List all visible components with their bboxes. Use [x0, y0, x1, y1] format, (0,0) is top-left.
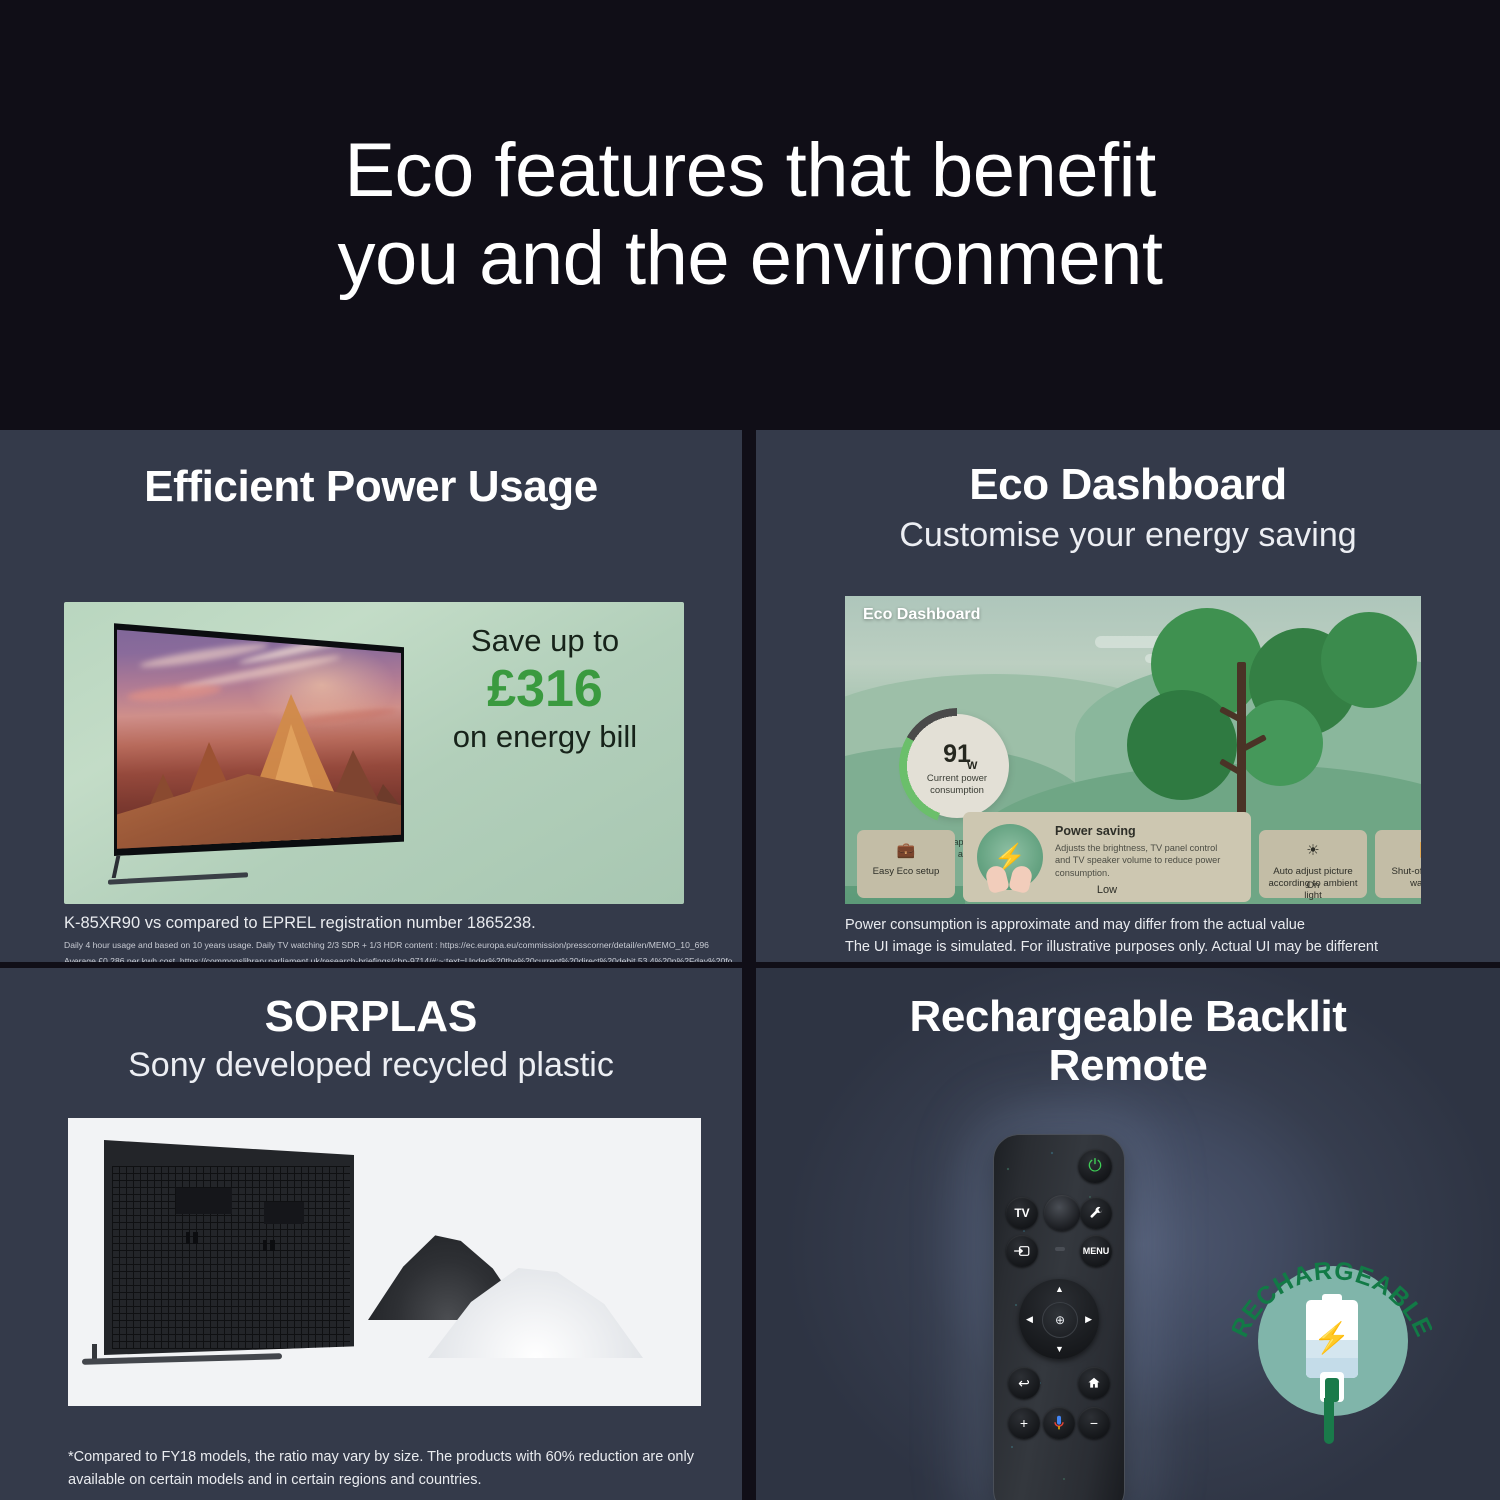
wrench-icon: [1089, 1206, 1104, 1221]
eco-dashboard-ui-screenshot: Eco Dashboard 91 W Current power consump…: [845, 596, 1421, 904]
tv-rear-panel: [104, 1140, 354, 1355]
power-panel-title: Efficient Power Usage: [0, 430, 742, 512]
microphone-icon: [1053, 1415, 1065, 1431]
page-title-line2: you and the environment: [337, 215, 1162, 303]
gauge-unit: W: [967, 760, 977, 772]
remote-panel-title: Rechargeable Backlit Remote: [756, 968, 1500, 1091]
settings-button[interactable]: [1080, 1197, 1112, 1229]
power-footnote-line1: Daily 4 hour usage and based on 10 years…: [64, 938, 736, 954]
power-consumption-gauge: 91 W Current power consumption: [905, 714, 1009, 818]
page-title: Eco features that benefit you and the en…: [337, 127, 1162, 303]
sorplas-panel-subtitle: Sony developed recycled plastic: [0, 1042, 742, 1085]
tile-auto-adjust-value: On: [1259, 880, 1367, 891]
tv-stand: [108, 856, 258, 882]
volume-down-button[interactable]: −: [1078, 1407, 1110, 1439]
tv-connector: [263, 1240, 267, 1251]
tile-shut-off-label: Shut-off when not watching: [1375, 866, 1421, 890]
dashboard-tile-row: 💼 Easy Eco setup ⚡ Power saving Adjusts …: [845, 808, 1421, 904]
dashboard-panel-title: Eco Dashboard: [756, 430, 1500, 510]
power-footnote-line2: Average £0.286 per kwh cost. https://com…: [64, 954, 736, 962]
cloud-streak: [127, 682, 223, 704]
tile-power-saving-label: Power saving: [1055, 824, 1136, 838]
ir-emitter: [1055, 1247, 1065, 1251]
dashboard-footnote-2: The UI image is simulated. For illustrat…: [845, 936, 1445, 958]
tv-connector: [270, 1240, 275, 1251]
dpad-down[interactable]: ▼: [1055, 1344, 1064, 1354]
tv-illustration: [82, 612, 412, 887]
tv-button[interactable]: TV: [1006, 1197, 1038, 1229]
dashboard-footnote-1: Power consumption is approximate and may…: [845, 914, 1445, 936]
savings-callout: Save up to £316 on energy bill: [416, 624, 674, 754]
tv-rear-stand: [82, 1350, 290, 1362]
tree-foliage: [1321, 612, 1417, 708]
home-icon: [1087, 1376, 1101, 1390]
badge-arc-text: RECHARGEABLE: [1232, 1240, 1432, 1440]
eco-dashboard-ui-label: Eco Dashboard: [863, 606, 980, 624]
tree-illustration: [1145, 604, 1415, 834]
dpad-right[interactable]: ▶: [1085, 1314, 1092, 1325]
remote-title-line2: Remote: [756, 1041, 1500, 1090]
on-energy-bill-label: on energy bill: [416, 720, 674, 754]
volume-up-button[interactable]: +: [1008, 1407, 1040, 1439]
sorplas-image: [68, 1118, 701, 1406]
dashboard-panel-subtitle: Customise your energy saving: [756, 510, 1500, 555]
dpad-up[interactable]: ▲: [1055, 1284, 1064, 1294]
home-button[interactable]: [1078, 1367, 1110, 1399]
power-saving-icon: ⚡: [977, 824, 1043, 890]
menu-button[interactable]: MENU: [1080, 1235, 1112, 1267]
tv-screen-mountain-sunset: [117, 620, 401, 852]
cloud-streak: [139, 640, 269, 671]
power-usage-image: Save up to £316 on energy bill: [64, 602, 684, 904]
tv-connector: [193, 1232, 198, 1244]
rechargeable-badge: ⚡ RECHARGEABLE: [1232, 1240, 1432, 1440]
panel-sorplas: SORPLAS Sony developed recycled plastic …: [0, 968, 742, 1500]
tv-connector: [186, 1232, 190, 1244]
gauge-value: 91: [905, 740, 1009, 769]
savings-amount: £316: [416, 660, 674, 718]
eco-features-infographic: Eco features that benefit you and the en…: [0, 0, 1500, 1500]
remote-title-line1: Rechargeable Backlit: [756, 992, 1500, 1041]
dpad[interactable]: ▲ ▼ ◀ ▶ ⊕: [1019, 1279, 1099, 1359]
tile-power-saving-value: Low: [963, 884, 1251, 896]
voice-button[interactable]: [1043, 1407, 1075, 1439]
power-button[interactable]: ⏻: [1078, 1149, 1112, 1183]
brightness-sensor-icon: ☀: [1259, 841, 1367, 859]
dpad-left[interactable]: ◀: [1026, 1314, 1033, 1325]
sorplas-panel-title: SORPLAS: [0, 968, 742, 1042]
remote-control: ⏻ TV MENU ▲ ▼ ◀ ▶ ⊕: [993, 1134, 1125, 1500]
tile-auto-adjust-picture[interactable]: ☀ Auto adjust picture according to ambie…: [1259, 830, 1367, 898]
input-button[interactable]: [1006, 1235, 1038, 1267]
rechargeable-label: RECHARGEABLE: [1232, 1257, 1432, 1342]
tile-power-saving-description: Adjusts the brightness, TV panel control…: [1055, 842, 1235, 879]
panel-efficient-power-usage: Efficient Power Usage: [0, 430, 742, 962]
panel-rechargeable-remote: Rechargeable Backlit Remote ⏻ TV MENU: [756, 968, 1500, 1500]
header-banner: Eco features that benefit you and the en…: [0, 0, 1500, 430]
tile-easy-eco-setup-label: Easy Eco setup: [857, 866, 955, 878]
tv-mesh-patch: [264, 1202, 304, 1224]
tv-mesh-patch: [176, 1188, 232, 1214]
back-button[interactable]: ↩: [1008, 1367, 1040, 1399]
panel-eco-dashboard: Eco Dashboard Customise your energy savi…: [756, 430, 1500, 962]
input-source-icon: [1014, 1244, 1030, 1258]
sorplas-footnote: *Compared to FY18 models, the ratio may …: [68, 1446, 708, 1492]
toolbox-icon: 💼: [857, 841, 955, 859]
dpad-center[interactable]: ⊕: [1042, 1302, 1078, 1338]
dashboard-footnotes: Power consumption is approximate and may…: [845, 914, 1445, 959]
tile-shut-off-when-not-watching[interactable]: 📴 Shut-off when not watching: [1375, 830, 1421, 898]
save-up-to-label: Save up to: [416, 624, 674, 658]
page-title-line1: Eco features that benefit: [337, 127, 1162, 215]
tile-power-saving[interactable]: ⚡ Power saving Adjusts the brightness, T…: [963, 812, 1251, 902]
microphone-button[interactable]: [1044, 1195, 1080, 1231]
tile-easy-eco-setup[interactable]: 💼 Easy Eco setup: [857, 830, 955, 898]
gauge-caption: Current power consumption: [905, 773, 1009, 796]
power-footnote-small: Daily 4 hour usage and based on 10 years…: [64, 938, 736, 962]
screen-off-icon: 📴: [1375, 841, 1421, 859]
power-footnote-main: K-85XR90 vs compared to EPREL registrati…: [64, 914, 724, 933]
